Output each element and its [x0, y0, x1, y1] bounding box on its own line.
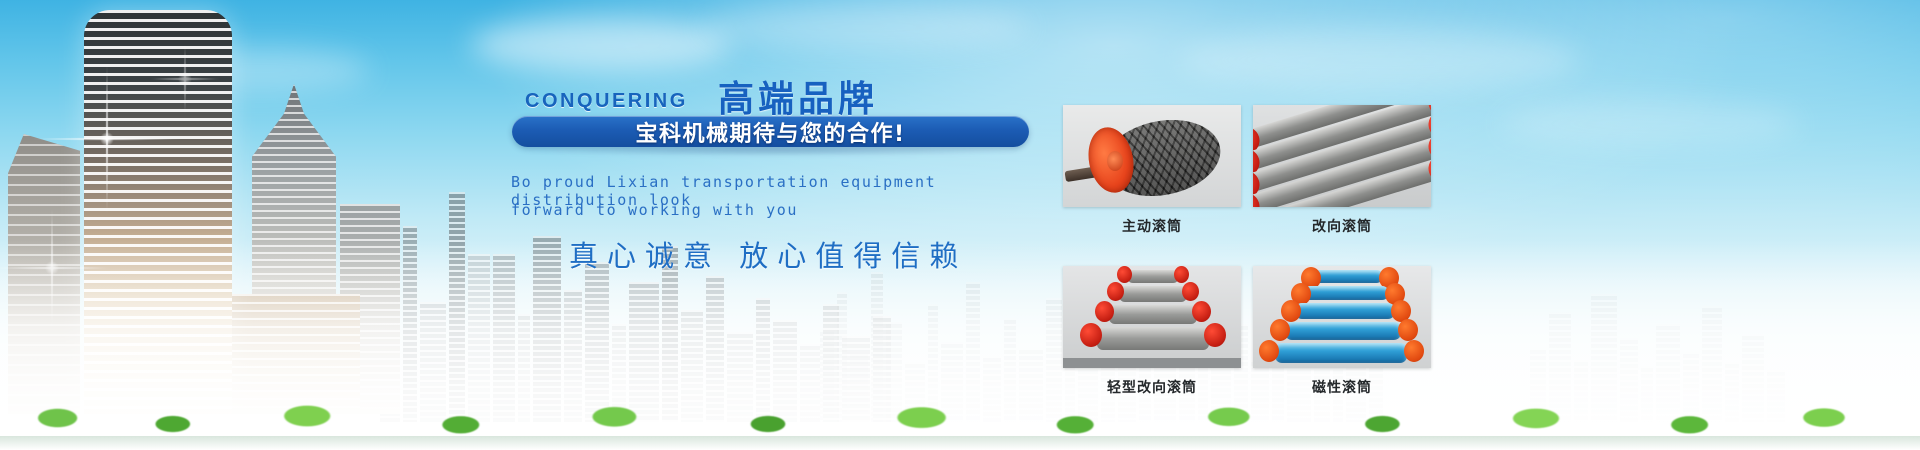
product-caption: 改向滚筒: [1253, 216, 1431, 236]
magnetic-pulley-image: [1253, 266, 1431, 368]
slogan-text: 真心诚意 放心值得信赖: [569, 233, 967, 275]
pill-shadow: [523, 146, 1023, 156]
drive-pulley-image: [1063, 105, 1241, 207]
kicker-text: CONQUERING: [525, 90, 688, 113]
product-caption: 轻型改向滚筒: [1063, 377, 1241, 397]
english-line-2: forward to working with you: [511, 201, 798, 219]
headline-pill-text: 宝科机械期待与您的合作!: [512, 116, 1029, 147]
product-card-bend-pulley[interactable]: 改向滚筒: [1253, 105, 1431, 236]
cloud-shape: [1180, 30, 1580, 90]
product-card-drive-pulley[interactable]: 主动滚筒: [1063, 105, 1241, 236]
product-caption: 磁性滚筒: [1253, 377, 1431, 397]
light-bend-pulley-image: [1063, 266, 1241, 368]
bend-pulley-image: [1253, 105, 1431, 207]
promo-banner: 高端品牌 CONQUERING 宝科机械期待与您的合作! Bo proud Li…: [0, 0, 1920, 450]
cloud-shape: [1500, 100, 1800, 148]
hero-buildings: [0, 0, 480, 414]
product-card-magnetic-pulley[interactable]: 磁性滚筒: [1253, 266, 1431, 397]
product-caption: 主动滚筒: [1063, 216, 1241, 236]
product-card-light-bend-pulley[interactable]: 轻型改向滚筒: [1063, 266, 1241, 397]
building-left: [8, 134, 80, 414]
brand-headline-cn: 高端品牌: [718, 70, 878, 122]
hedge-band: [0, 400, 1920, 440]
cloud-shape: [700, 4, 1030, 50]
hedge-shadow: [0, 436, 1920, 450]
cloud-shape: [470, 18, 730, 72]
building-main-tower: [84, 10, 232, 414]
